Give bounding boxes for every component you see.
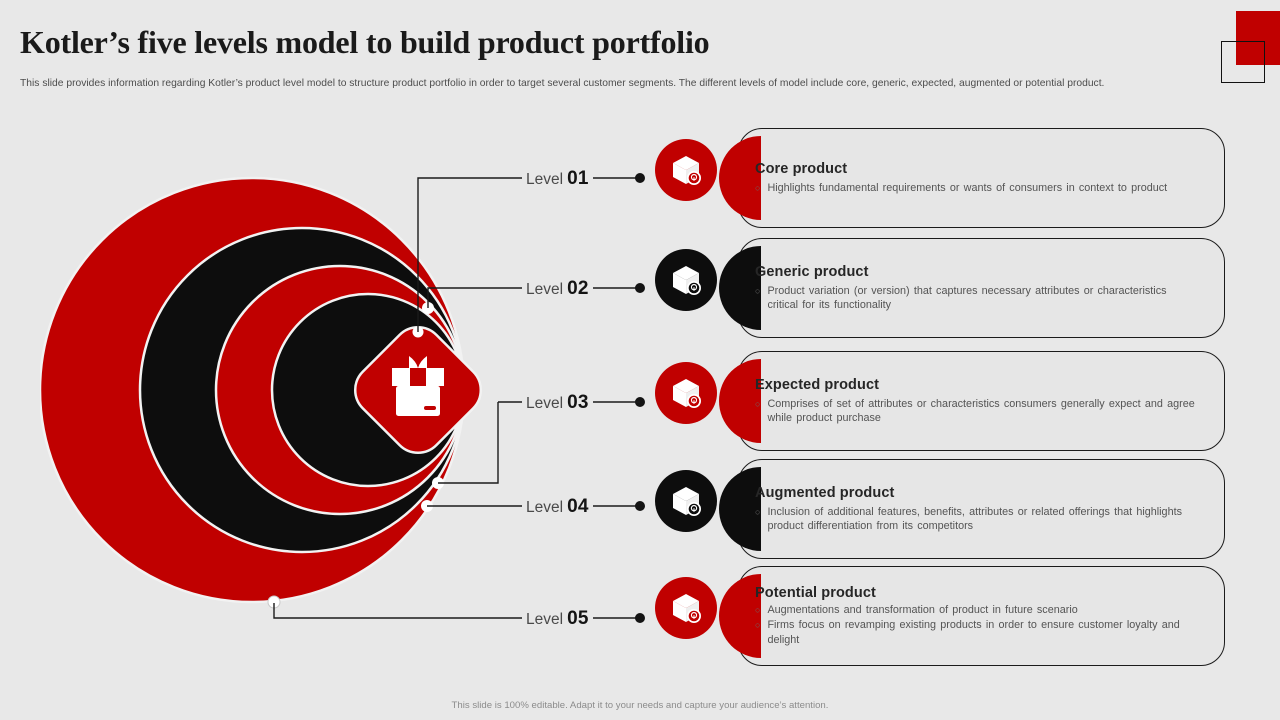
anchor-dot-level-04: [421, 500, 433, 512]
connector-endpoint-04: [635, 501, 645, 511]
card-icon-circle: [655, 249, 717, 311]
connector-endpoint-03: [635, 397, 645, 407]
level-label-number: 01: [567, 168, 589, 189]
bullet-text: Highlights fundamental requirements or w…: [767, 181, 1167, 196]
card-title: Augmented product: [755, 485, 1199, 501]
card-title: Generic product: [755, 264, 1199, 280]
card-text: Augmented product ○ Inclusion of additio…: [755, 459, 1213, 559]
card-bullet: ○ Product variation (or version) that ca…: [755, 284, 1199, 313]
bullet-marker-icon: ○: [755, 618, 760, 633]
bullet-marker-icon: ○: [755, 284, 760, 299]
anchor-dot-level-03: [432, 477, 444, 489]
card-icon-circle: [655, 139, 717, 201]
page-title: Kotler’s five levels model to build prod…: [20, 24, 709, 61]
page-subtitle: This slide provides information regardin…: [20, 76, 1195, 91]
anchor-dot-level-05: [268, 596, 280, 608]
level-label-04: Level04: [522, 496, 593, 518]
card-core-product[interactable]: Core product ○ Highlights fundamental re…: [655, 128, 1225, 228]
cube-box-icon: [668, 590, 704, 626]
card-bullet: ○ Inclusion of additional features, bene…: [755, 505, 1199, 534]
bullet-text: Firms focus on revamping existing produc…: [767, 618, 1199, 647]
connector-endpoint-05: [635, 613, 645, 623]
card-title: Core product: [755, 161, 1199, 177]
level-label-05: Level05: [522, 608, 593, 630]
bullet-text: Comprises of set of attributes or charac…: [767, 397, 1199, 426]
level-label-prefix: Level: [526, 611, 563, 628]
level-label-prefix: Level: [526, 171, 563, 188]
level-label-number: 04: [567, 496, 589, 517]
card-text: Expected product ○ Comprises of set of a…: [755, 351, 1213, 451]
decorative-outline-square: [1221, 41, 1265, 83]
concentric-levels-diagram: [40, 150, 520, 630]
bullet-marker-icon: ○: [755, 505, 760, 520]
card-potential-product[interactable]: Potential product ○ Augmentations and tr…: [655, 566, 1225, 666]
connector-endpoint-01: [635, 173, 645, 183]
card-text: Core product ○ Highlights fundamental re…: [755, 128, 1213, 228]
bullet-text: Augmentations and transformation of prod…: [767, 603, 1077, 618]
card-icon-circle: [655, 362, 717, 424]
card-expected-product[interactable]: Expected product ○ Comprises of set of a…: [655, 351, 1225, 451]
card-text: Generic product ○ Product variation (or …: [755, 238, 1213, 338]
card-bullet: ○ Firms focus on revamping existing prod…: [755, 618, 1199, 647]
level-label-number: 03: [567, 392, 589, 413]
level-label-prefix: Level: [526, 499, 563, 516]
card-icon-circle: [655, 470, 717, 532]
connector-endpoint-02: [635, 283, 645, 293]
level-label-01: Level01: [522, 168, 593, 190]
level-label-02: Level02: [522, 278, 593, 300]
level-label-03: Level03: [522, 392, 593, 414]
footer-note: This slide is 100% editable. Adapt it to…: [0, 700, 1280, 711]
bullet-text: Inclusion of additional features, benefi…: [767, 505, 1199, 534]
card-augmented-product[interactable]: Augmented product ○ Inclusion of additio…: [655, 459, 1225, 559]
cube-box-icon: [668, 375, 704, 411]
level-label-number: 02: [567, 278, 589, 299]
card-title: Potential product: [755, 585, 1199, 601]
cube-box-icon: [668, 262, 704, 298]
level-label-prefix: Level: [526, 395, 563, 412]
bullet-marker-icon: ○: [755, 603, 760, 618]
bullet-marker-icon: ○: [755, 181, 760, 196]
card-text: Potential product ○ Augmentations and tr…: [755, 566, 1213, 666]
cube-box-icon: [668, 152, 704, 188]
level-label-prefix: Level: [526, 281, 563, 298]
card-bullet: ○ Augmentations and transformation of pr…: [755, 603, 1199, 618]
card-title: Expected product: [755, 377, 1199, 393]
level-label-number: 05: [567, 608, 589, 629]
card-bullet: ○ Highlights fundamental requirements or…: [755, 181, 1199, 196]
card-icon-circle: [655, 577, 717, 639]
card-generic-product[interactable]: Generic product ○ Product variation (or …: [655, 238, 1225, 338]
bullet-text: Product variation (or version) that capt…: [767, 284, 1199, 313]
card-bullet: ○ Comprises of set of attributes or char…: [755, 397, 1199, 426]
anchor-dot-level-01: [413, 327, 424, 338]
cube-box-icon: [668, 483, 704, 519]
bullet-marker-icon: ○: [755, 397, 760, 412]
anchor-dot-level-02: [422, 302, 434, 314]
